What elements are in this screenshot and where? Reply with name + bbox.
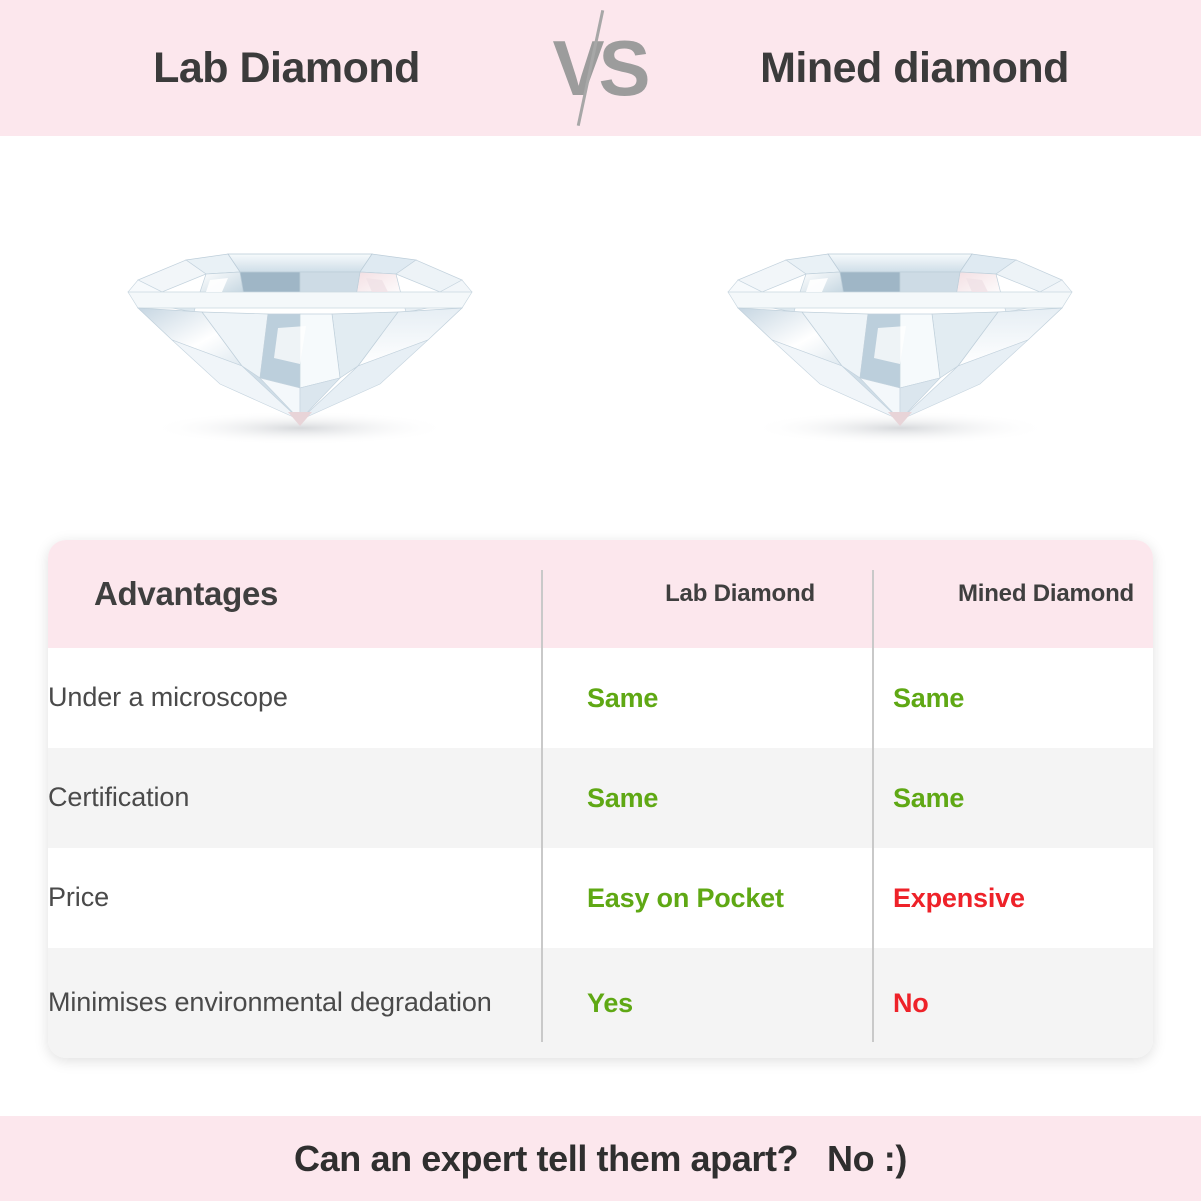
mined-diamond-image — [600, 136, 1200, 540]
lab-diamond-image — [0, 136, 600, 540]
versus-badge: VS — [537, 3, 657, 133]
row-lab-value: Same — [587, 748, 893, 848]
header-titles-row: Lab Diamond VS Mined diamond — [0, 3, 1201, 133]
diamond-icon — [710, 188, 1090, 488]
page-footer-band: Can an expert tell them apart? No :) — [0, 1116, 1201, 1201]
comparison-table-card: Advantages Lab Diamond Mined Diamond Und… — [48, 540, 1153, 1058]
table-row: Certification Same Same — [48, 748, 1153, 848]
table-row: Minimises environmental degradation Yes … — [48, 948, 1153, 1058]
column-header-advantages: Advantages — [48, 540, 587, 648]
comparison-table: Advantages Lab Diamond Mined Diamond Und… — [48, 540, 1153, 1058]
header-title-lab-diamond: Lab Diamond — [47, 44, 537, 93]
lab-diamond-gem-wrap — [110, 188, 490, 488]
diamond-icon — [110, 188, 490, 488]
row-mined-value: Same — [893, 648, 1153, 748]
header-title-mined-diamond: Mined diamond — [657, 44, 1155, 93]
column-header-mined-diamond: Mined Diamond — [893, 540, 1153, 648]
column-header-lab-diamond: Lab Diamond — [587, 540, 893, 648]
row-feature-label: Under a microscope — [48, 648, 587, 748]
row-mined-value: No — [893, 948, 1153, 1058]
row-feature-label: Price — [48, 848, 587, 948]
row-feature-label: Minimises environmental degradation — [48, 948, 587, 1058]
table-header: Advantages Lab Diamond Mined Diamond — [48, 540, 1153, 648]
row-lab-value: Same — [587, 648, 893, 748]
row-lab-value: Easy on Pocket — [587, 848, 893, 948]
row-feature-label: Certification — [48, 748, 587, 848]
row-lab-value: Yes — [587, 948, 893, 1058]
table-row: Price Easy on Pocket Expensive — [48, 848, 1153, 948]
table-header-row: Advantages Lab Diamond Mined Diamond — [48, 540, 1153, 648]
mined-diamond-gem-wrap — [710, 188, 1090, 488]
table-row: Under a microscope Same Same — [48, 648, 1153, 748]
diamond-images-area — [0, 136, 1201, 540]
row-mined-value: Expensive — [893, 848, 1153, 948]
row-mined-value: Same — [893, 748, 1153, 848]
footer-question-text: Can an expert tell them apart? No :) — [294, 1138, 907, 1180]
page-header-band: Lab Diamond VS Mined diamond — [0, 0, 1201, 136]
table-body: Under a microscope Same Same Certificati… — [48, 648, 1153, 1058]
